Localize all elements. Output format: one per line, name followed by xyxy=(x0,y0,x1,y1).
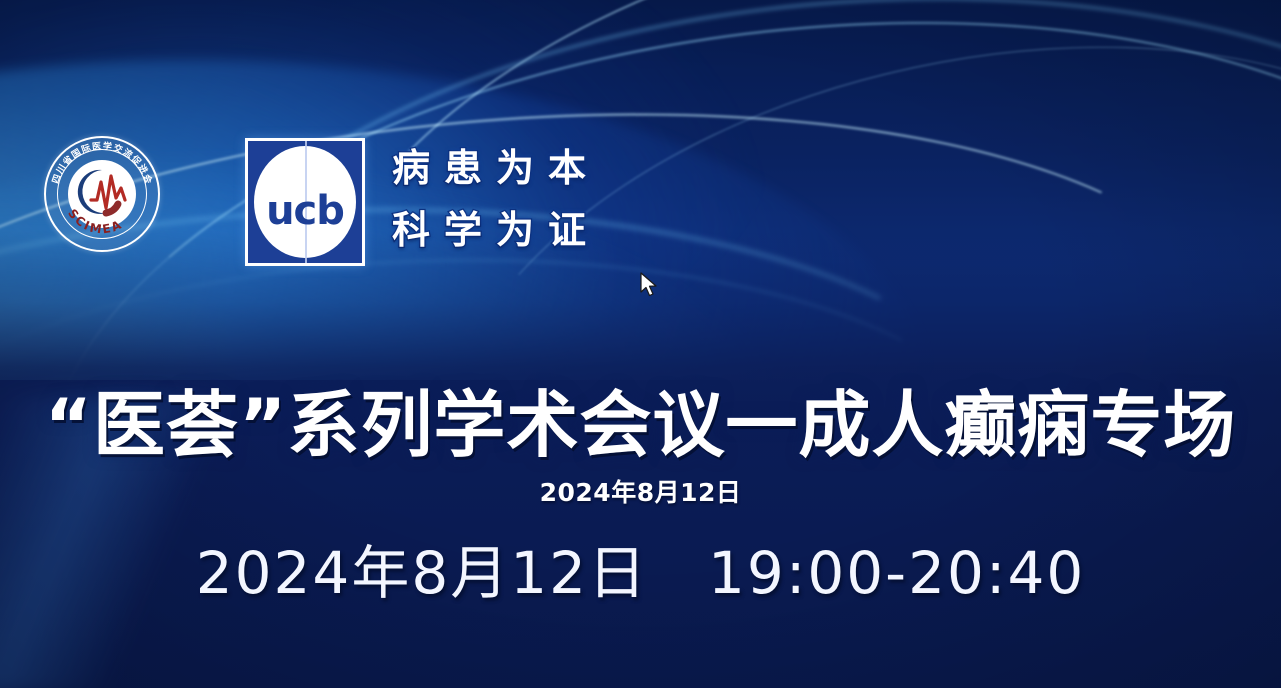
slogan-line-2: 科学为证 xyxy=(392,199,672,261)
ucb-wordmark: ucb xyxy=(248,191,362,231)
scimea-logo: 四川省国际医学交流促进会 SCIMEA xyxy=(44,136,160,252)
sponsor-slogan: 病患为本 科学为证 xyxy=(392,137,672,261)
logo-row: 四川省国际医学交流促进会 SCIMEA ucb xyxy=(0,0,1281,380)
scimea-arc-text: 四川省国际医学交流促进会 xyxy=(50,140,155,186)
presentation-slide: 四川省国际医学交流促进会 SCIMEA ucb xyxy=(0,0,1281,688)
slogan-line-1: 病患为本 xyxy=(392,137,672,199)
svg-text:四川省国际医学交流促进会: 四川省国际医学交流促进会 xyxy=(50,140,155,186)
event-datetime: 2024年8月12日 19:00-20:40 xyxy=(0,536,1281,610)
ucb-logo: ucb xyxy=(245,138,365,266)
scimea-emblem-mark xyxy=(78,170,125,214)
event-subtitle-date: 2024年8月12日 xyxy=(0,478,1281,508)
event-title: “医荟”系列学术会议一成人癫痫专场 xyxy=(0,378,1281,472)
scimea-arc-text-group: 四川省国际医学交流促进会 SCIMEA xyxy=(44,136,160,252)
